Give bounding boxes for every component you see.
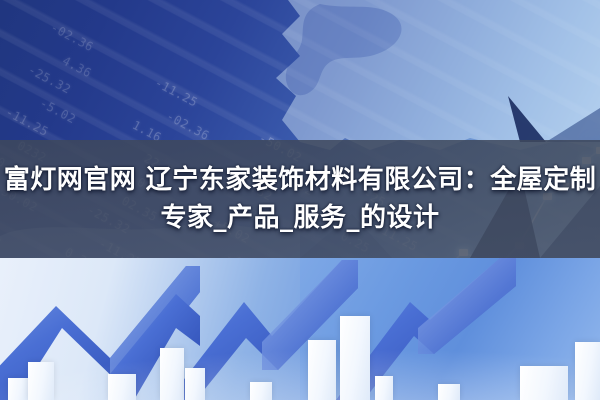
bar [375,376,393,400]
bar [575,342,600,400]
bar [308,340,336,400]
bar [340,316,370,400]
bar [520,366,568,400]
bar-chart [0,258,600,400]
bar [160,348,184,400]
lower-panel [0,258,600,400]
title-block: 富灯网官网 辽宁东家装饰材料有限公司：全屋定制 专家_产品_服务_的设计 [0,140,600,258]
bar [28,362,54,400]
bar [438,384,460,400]
bar [108,374,136,400]
bar [8,378,28,400]
title-line-1: 富灯网官网 辽宁东家装饰材料有限公司：全屋定制 [4,162,597,198]
bar [250,382,272,400]
bar [185,368,205,400]
title-line-2: 专家_产品_服务_的设计 [160,200,439,236]
banner-image: -45.02-02.36-11.25-50.02-25.32+5.024.36-… [0,0,600,400]
